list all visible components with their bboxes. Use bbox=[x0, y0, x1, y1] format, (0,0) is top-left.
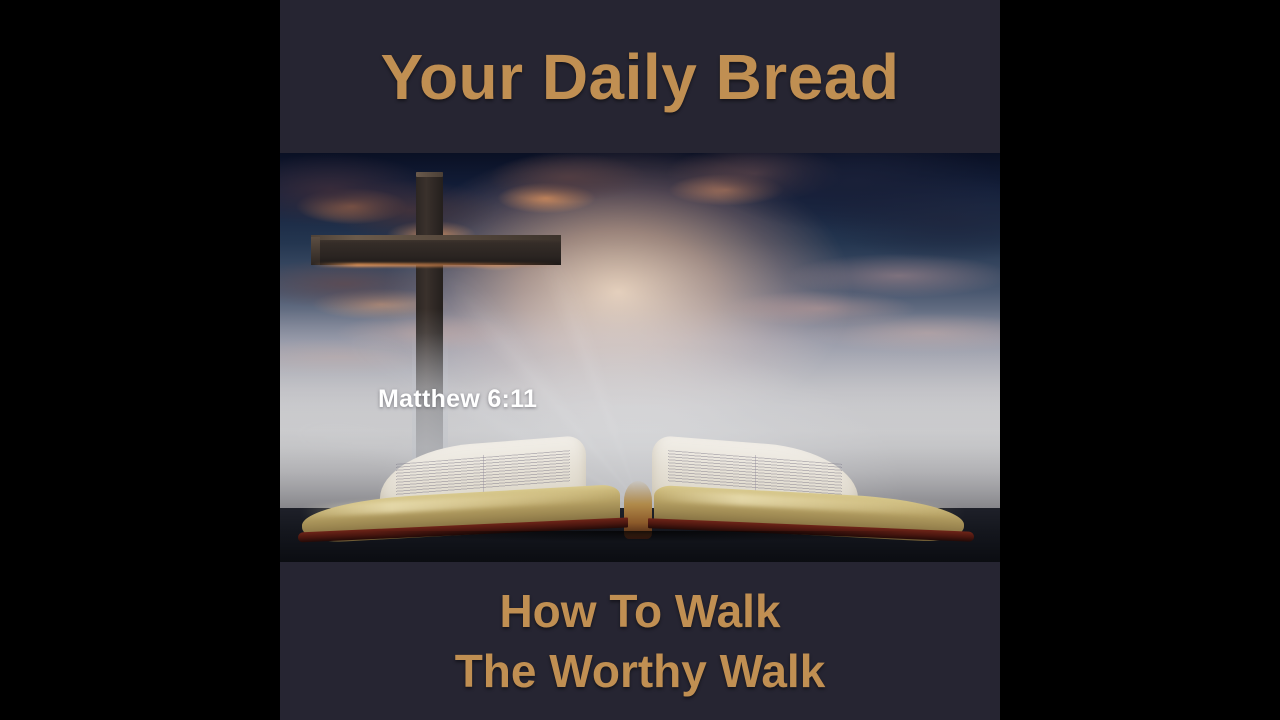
open-bible-icon bbox=[280, 153, 1000, 562]
bible-drop-shadow bbox=[290, 531, 990, 557]
page-column-rule bbox=[755, 455, 756, 493]
letterbox-right bbox=[1000, 0, 1280, 720]
verse-reference: Matthew 6:11 bbox=[378, 385, 537, 414]
slide-stage: Your Daily Bread bbox=[0, 0, 1280, 720]
slide-content-column: Your Daily Bread bbox=[280, 0, 1000, 720]
gild-sheen bbox=[302, 488, 620, 518]
page-title: Your Daily Bread bbox=[381, 45, 900, 109]
page-column-rule bbox=[483, 455, 484, 493]
subtitle-line-2: The Worthy Walk bbox=[455, 647, 826, 695]
gild-sheen bbox=[654, 489, 964, 517]
subtitle-band: How To Walk The Worthy Walk bbox=[280, 562, 1000, 720]
title-band: Your Daily Bread bbox=[280, 0, 1000, 153]
hero-image: Matthew 6:11 bbox=[280, 153, 1000, 562]
letterbox-left bbox=[0, 0, 280, 720]
subtitle-line-1: How To Walk bbox=[499, 587, 780, 635]
